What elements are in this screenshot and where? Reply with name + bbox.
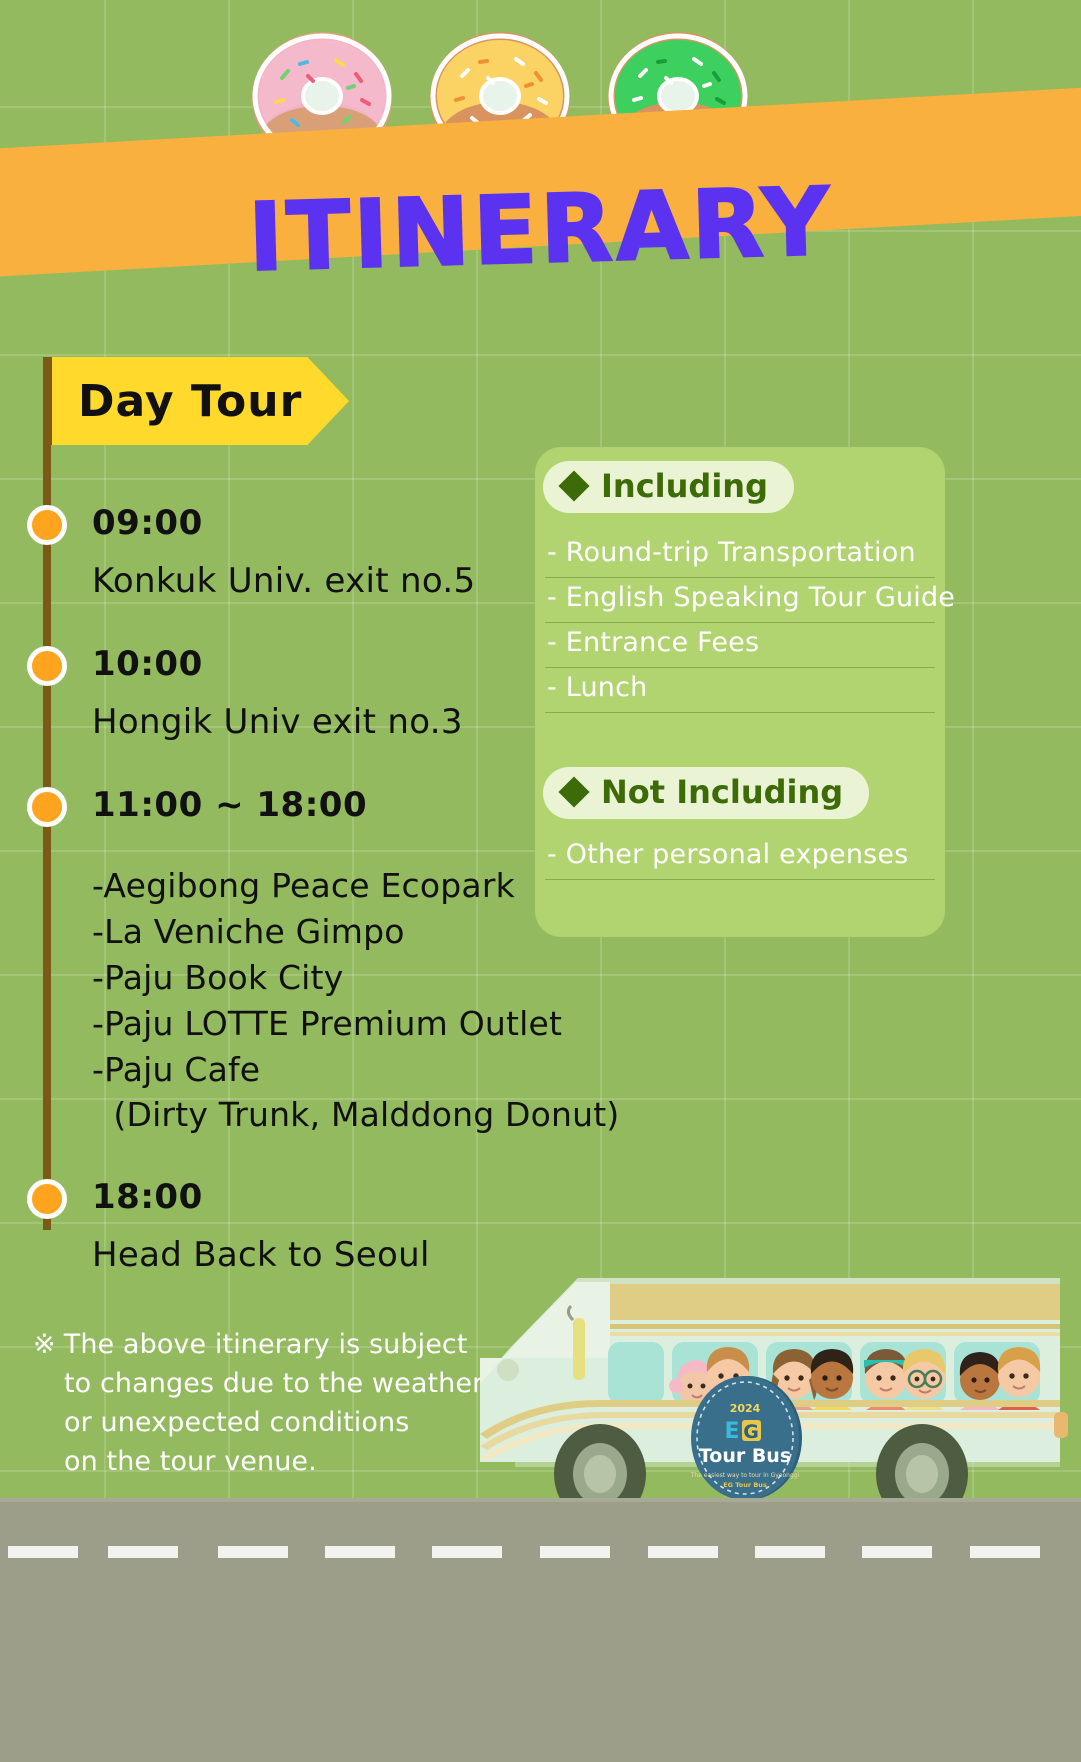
timeline-dot-1 (27, 505, 67, 545)
timeline-stop-2: 10:00 Hongik Univ exit no.3 (92, 644, 463, 742)
note-line: ※The above itinerary is subject (33, 1326, 503, 1365)
timeline-dot-4 (27, 1179, 67, 1219)
stop-1-place: Konkuk Univ. exit no.5 (92, 561, 475, 601)
stop-4-place: Head Back to Seoul (92, 1235, 430, 1275)
including-list: - Round-trip Transportation - English Sp… (545, 533, 935, 713)
note-line: to changes due to the weather (33, 1365, 503, 1404)
timeline-stop-4: 18:00 Head Back to Seoul (92, 1177, 430, 1275)
stop-2-place: Hongik Univ exit no.3 (92, 702, 463, 742)
stop-4-time: 18:00 (92, 1177, 430, 1217)
timeline-stop-1: 09:00 Konkuk Univ. exit no.5 (92, 503, 475, 601)
not-including-pill: Not Including (543, 767, 869, 819)
timeline-dot-3 (27, 787, 67, 827)
diamond-icon (558, 776, 589, 807)
road-strip (0, 1498, 1081, 1762)
tour-bus-illustration: 2024 E G Tour Bus The easiest way to tou… (460, 1262, 1080, 1522)
destination-item: (Dirty Trunk, Malddong Donut) (92, 1094, 620, 1137)
stop-2-time: 10:00 (92, 644, 463, 684)
timeline-dot-2 (27, 646, 67, 686)
stop-3-time: 11:00 ~ 18:00 (92, 785, 367, 825)
svg-text:The easiest way to tour in Gye: The easiest way to tour in Gyeonggi (690, 1472, 800, 1479)
destination-item: -Paju LOTTE Premium Outlet (92, 1003, 620, 1046)
note-text: The above itinerary is subject (64, 1329, 468, 1360)
stop-1-time: 09:00 (92, 503, 475, 543)
road-edge (0, 1498, 1081, 1502)
svg-text:2024: 2024 (730, 1402, 761, 1415)
including-pill: Including (543, 461, 794, 513)
inclusions-panel: Including - Round-trip Transportation - … (535, 447, 945, 937)
diamond-icon (558, 470, 589, 501)
not-including-list: - Other personal expenses (545, 835, 935, 880)
not-including-item: - Other personal expenses (545, 835, 935, 880)
note-line: or unexpected conditions (33, 1404, 503, 1443)
disclaimer-note: ※The above itinerary is subject to chang… (33, 1326, 503, 1482)
including-item: - English Speaking Tour Guide (545, 578, 935, 623)
road-dashes (0, 1546, 1081, 1558)
destination-item: -Paju Book City (92, 957, 620, 1000)
svg-text:E: E (724, 1419, 739, 1444)
including-header: Including (535, 461, 794, 513)
svg-text:EG Tour Bus: EG Tour Bus (723, 1481, 767, 1489)
day-tour-label: Day Tour (52, 376, 302, 427)
ribbon-flag: Day Tour (52, 357, 349, 445)
note-line: on the tour venue. (33, 1443, 503, 1482)
including-item: - Lunch (545, 668, 935, 713)
destination-item: -Paju Cafe (92, 1049, 620, 1092)
not-including-header: Not Including (535, 767, 869, 819)
not-including-heading: Not Including (601, 773, 843, 811)
including-heading: Including (601, 467, 768, 505)
timeline-stop-3: 11:00 ~ 18:00 (92, 785, 367, 825)
including-item: - Entrance Fees (545, 623, 935, 668)
svg-text:Tour Bus: Tour Bus (699, 1445, 791, 1467)
svg-text:G: G (743, 1421, 759, 1443)
note-mark-icon: ※ (33, 1329, 56, 1360)
including-item: - Round-trip Transportation (545, 533, 935, 578)
